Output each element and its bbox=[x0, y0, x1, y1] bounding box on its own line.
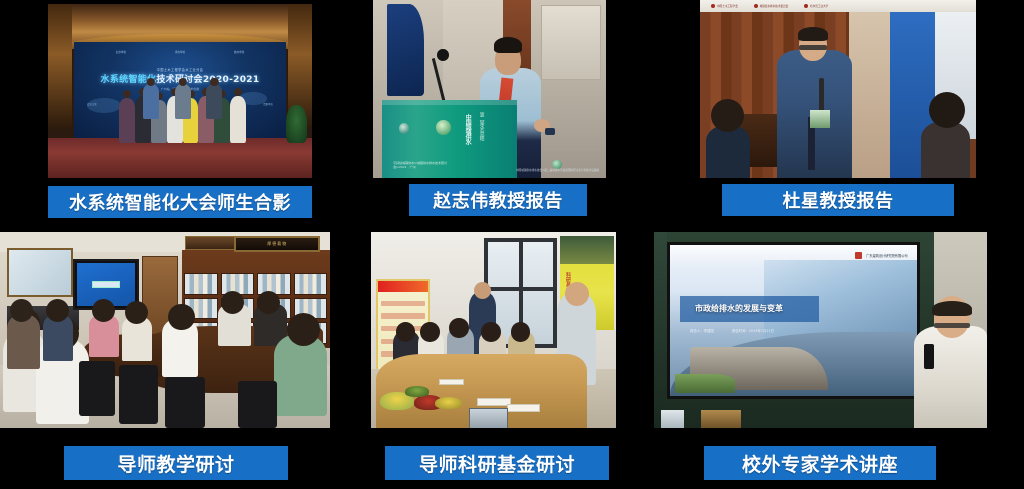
slide-presenter: 报告人：李建国 bbox=[690, 328, 714, 333]
handheld-microphone bbox=[924, 344, 934, 369]
chair bbox=[238, 381, 278, 428]
audience-head bbox=[929, 92, 965, 128]
photo-cell-3: 中国土木工程学会 城镇给水排水技术委员会 哈尔滨工业大学 bbox=[700, 0, 976, 218]
seated-person bbox=[7, 314, 40, 369]
photo-image-1: 主办单位 承办单位 协办单位 中国土木工程学会水工业分会 水系统智能化技术研讨会… bbox=[48, 4, 312, 178]
org-dot-icon bbox=[711, 4, 715, 8]
projection-screen-frame: 广东建筑设计研究院有限公司 市政给排水的发展与变革 报告人：李建国 报告时间：2… bbox=[667, 242, 920, 399]
header-org-2: 城镇给水排水技术委员会 bbox=[754, 4, 789, 8]
lecturer-hair bbox=[932, 301, 972, 317]
photo-caption-4: 导师教学研讨 bbox=[64, 446, 288, 480]
stage-column-left bbox=[48, 4, 72, 129]
person-head bbox=[511, 322, 531, 342]
header-org-label: 城镇给水排水技术委员会 bbox=[760, 4, 789, 8]
laptop bbox=[469, 408, 508, 428]
slide-meta: 报告人：李建国 报告时间：2019年7月11日 bbox=[690, 328, 774, 333]
speaker-hair bbox=[798, 27, 828, 41]
photo-image-5: 科研基金 bbox=[371, 232, 616, 428]
group-person bbox=[143, 84, 159, 119]
stage-plant bbox=[286, 105, 307, 143]
hall-panel bbox=[541, 5, 602, 80]
banner-title-sub: 技术研讨会2020-2021 bbox=[156, 75, 259, 85]
slide-date: 报告时间：2019年7月11日 bbox=[732, 328, 774, 333]
board-header bbox=[560, 236, 614, 264]
podium-text-main: 中国城镇供水 bbox=[458, 114, 470, 158]
beige-column bbox=[849, 0, 890, 178]
person-head bbox=[474, 282, 491, 299]
org-dot-icon bbox=[754, 4, 758, 8]
display-dialog bbox=[92, 281, 120, 289]
lecturer-body bbox=[914, 326, 987, 428]
photo-cell-4: 厚德载物 bbox=[0, 232, 330, 489]
paper-sheet bbox=[439, 379, 464, 385]
photo-caption-1: 水系统智能化大会师生合影 bbox=[48, 186, 312, 218]
podium: 中国城镇供水 第二届水务高峰 可持续城镇供水\n城镇供水排水技术研讨会\n202… bbox=[382, 100, 517, 178]
blue-flag bbox=[387, 4, 424, 97]
window-transom bbox=[488, 287, 554, 291]
header-org-1: 中国土木工程学会 bbox=[711, 4, 738, 8]
wall-plaque: 厚德载物 bbox=[234, 236, 320, 252]
photo-collage-board: 主办单位 承办单位 协办单位 中国土木工程学会水工业分会 水系统智能化技术研讨会… bbox=[0, 0, 1024, 489]
header-logo-bar: 中国土木工程学会 城镇给水排水技术委员会 哈尔滨工业大学 bbox=[700, 0, 976, 12]
slide-landscape bbox=[675, 374, 734, 392]
header-org-3: 哈尔滨工业大学 bbox=[804, 4, 828, 8]
banana-cluster bbox=[435, 397, 462, 409]
banner-org-item: 赞助单位 bbox=[263, 102, 273, 106]
podium-logo-primary bbox=[436, 120, 451, 135]
chair bbox=[119, 365, 159, 424]
photo-caption-3: 杜星教授报告 bbox=[722, 184, 954, 216]
person-head bbox=[168, 304, 194, 330]
org-dot-icon bbox=[804, 4, 808, 8]
podium-text-side: 第二届水务高峰 bbox=[471, 112, 483, 159]
slide-company-name: 广东建筑设计研究院有限公司 bbox=[866, 253, 907, 258]
group-person bbox=[230, 96, 246, 143]
classroom-desk bbox=[701, 410, 741, 428]
banner-top-strip: 主办单位 承办单位 协办单位 bbox=[91, 50, 268, 54]
chalkboard-edge bbox=[654, 232, 667, 428]
bin bbox=[661, 410, 684, 428]
podium-text-sub: 可持续城镇供水\n城镇供水排水技术研讨会\n2021 · 广州 bbox=[393, 161, 447, 171]
chair bbox=[79, 361, 115, 416]
banner-top-item: 协办单位 bbox=[234, 50, 244, 54]
person-head bbox=[481, 322, 501, 342]
chair bbox=[165, 377, 205, 428]
seated-person bbox=[274, 334, 327, 416]
poster-band bbox=[378, 281, 428, 292]
photo-image-3: 中国土木工程学会 城镇给水排水技术委员会 哈尔滨工业大学 bbox=[700, 0, 976, 178]
photo-image-2: 中国城镇供水 第二届水务高峰 可持续城镇供水\n城镇供水排水技术研讨会\n202… bbox=[373, 0, 606, 178]
person-head bbox=[396, 322, 416, 342]
banner-org-item: 会议主席 bbox=[87, 102, 97, 106]
photo-cell-5: 科研基金 bbox=[371, 232, 616, 489]
group-person bbox=[119, 98, 135, 143]
slide-title-bar: 市政给排水的发展与变革 bbox=[680, 296, 818, 322]
corner-caption-text: 中国城镇供水排水协会\n第二届城镇水务发展国际研讨会与新技术设备展 bbox=[516, 169, 599, 173]
person-head bbox=[287, 313, 320, 346]
presentation-slide: 广东建筑设计研究院有限公司 市政给排水的发展与变革 报告人：李建国 报告时间：2… bbox=[670, 245, 917, 396]
paper-sheet bbox=[507, 404, 541, 411]
group-person bbox=[206, 84, 222, 119]
audience-head bbox=[711, 99, 744, 132]
speaker-hair bbox=[494, 37, 522, 53]
photo-cell-1: 主办单位 承办单位 协办单位 中国土木工程学会水工业分会 水系统智能化技术研讨会… bbox=[48, 4, 312, 218]
photo-caption-5: 导师科研基金研讨 bbox=[385, 446, 609, 480]
microphone-head bbox=[437, 49, 449, 61]
person-head bbox=[449, 318, 469, 338]
speaker-notecard bbox=[810, 110, 829, 128]
company-logo-icon bbox=[855, 252, 862, 259]
corner-emblem bbox=[552, 160, 561, 169]
audience-person bbox=[706, 125, 750, 178]
banner-top-item: 承办单位 bbox=[175, 50, 185, 54]
photo-image-4: 厚德载物 bbox=[0, 232, 330, 428]
speaker-glasses bbox=[799, 45, 827, 49]
header-org-label: 哈尔滨工业大学 bbox=[810, 4, 828, 8]
group-person bbox=[175, 84, 191, 119]
person-head bbox=[420, 322, 440, 342]
photo-caption-2: 赵志伟教授报告 bbox=[409, 184, 587, 216]
photo-cell-6: 广东建筑设计研究院有限公司 市政给排水的发展与变革 报告人：李建国 报告时间：2… bbox=[654, 232, 987, 489]
banner-top-item: 主办单位 bbox=[116, 50, 126, 54]
slide-title: 市政给排水的发展与变革 bbox=[695, 303, 783, 314]
header-org-label: 中国土木工程学会 bbox=[717, 4, 738, 8]
podium-logo-secondary bbox=[399, 123, 410, 134]
photo-cell-2: 中国城镇供水 第二届水务高峰 可持续城镇供水\n城镇供水排水技术研讨会\n202… bbox=[373, 0, 606, 218]
lecturer-glasses bbox=[934, 323, 971, 328]
person-head bbox=[10, 299, 33, 322]
audience-person bbox=[921, 121, 971, 178]
stage-floor bbox=[48, 138, 312, 178]
speaker-watch bbox=[545, 128, 554, 135]
wall-painting bbox=[7, 248, 73, 297]
photo-image-6: 广东建筑设计研究院有限公司 市政给排水的发展与变革 报告人：李建国 报告时间：2… bbox=[654, 232, 987, 428]
photo-caption-6: 校外专家学术讲座 bbox=[704, 446, 936, 480]
fruit-bowl-green bbox=[405, 386, 428, 396]
